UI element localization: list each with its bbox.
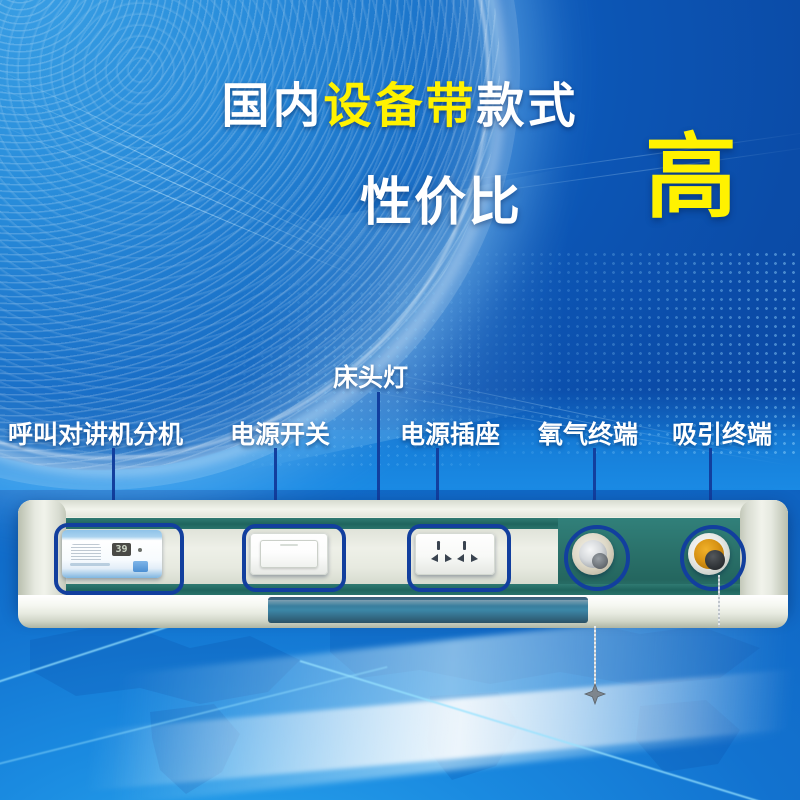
callout-label-oxygen-terminal: 氧气终端	[538, 415, 638, 451]
panel-top-rail	[18, 500, 788, 517]
pull-cord[interactable]	[594, 626, 596, 688]
callout-label-intercom: 呼叫对讲机分机	[8, 415, 183, 451]
pull-cord-hook-icon[interactable]	[583, 683, 607, 707]
headline-line-1: 国内设备带款式	[0, 82, 800, 130]
highlight-box-intercom	[54, 523, 184, 595]
panel-reflective-band	[268, 597, 588, 623]
headline-block: 国内设备带款式 性价比 高	[0, 82, 800, 130]
callout-label-power-switch: 电源开关	[230, 415, 330, 451]
headline-part-1: 国内	[221, 78, 323, 134]
headline-subtext: 性价比	[360, 160, 522, 235]
callout-label-power-socket: 电源插座	[400, 415, 500, 451]
callout-label-bed-lamp: 床头灯	[333, 358, 408, 394]
highlight-circle-oxygen	[564, 525, 630, 591]
callout-label-suction-terminal: 吸引终端	[672, 415, 772, 451]
highlight-box-power-switch	[242, 524, 346, 592]
headline-part-3: 款式	[477, 78, 579, 134]
highlight-box-power-socket	[407, 524, 511, 592]
banner-stage: 国内设备带款式 性价比 高 呼叫对讲机分机 电源开关 床头灯 电源插座 氧气终端…	[0, 0, 800, 800]
highlight-circle-suction	[680, 525, 746, 591]
suction-port-tube	[718, 575, 720, 627]
headline-part-2: 设备带	[323, 78, 476, 134]
headline-emphasis: 高	[645, 132, 737, 224]
